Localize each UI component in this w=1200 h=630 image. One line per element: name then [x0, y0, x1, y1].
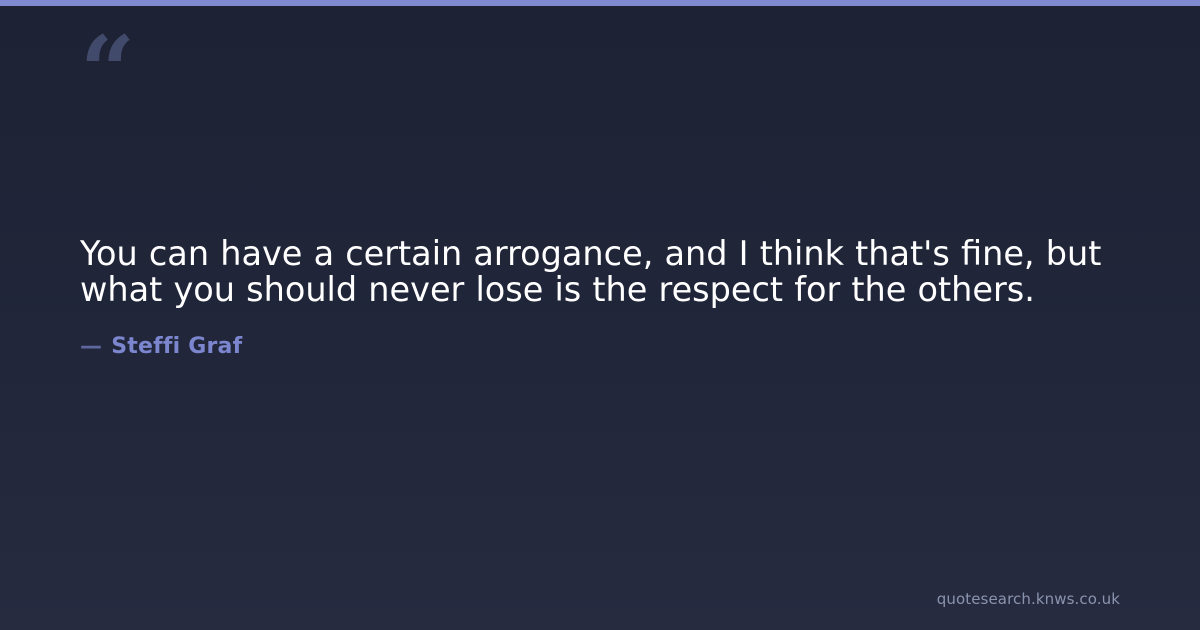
attribution-author: Steffi Graf: [111, 334, 242, 359]
quote-body: You can have a certain arrogance, and I …: [80, 236, 1120, 361]
quote-attribution: —Steffi Graf: [80, 308, 1120, 361]
attribution-dash: —: [80, 334, 111, 359]
top-accent-bar: [0, 0, 1200, 6]
quote-card: “ You can have a certain arrogance, and …: [0, 0, 1200, 630]
site-watermark: quotesearch.knws.co.uk: [937, 590, 1120, 608]
quotation-mark-icon: “: [80, 24, 133, 120]
quote-text: You can have a certain arrogance, and I …: [80, 236, 1120, 308]
